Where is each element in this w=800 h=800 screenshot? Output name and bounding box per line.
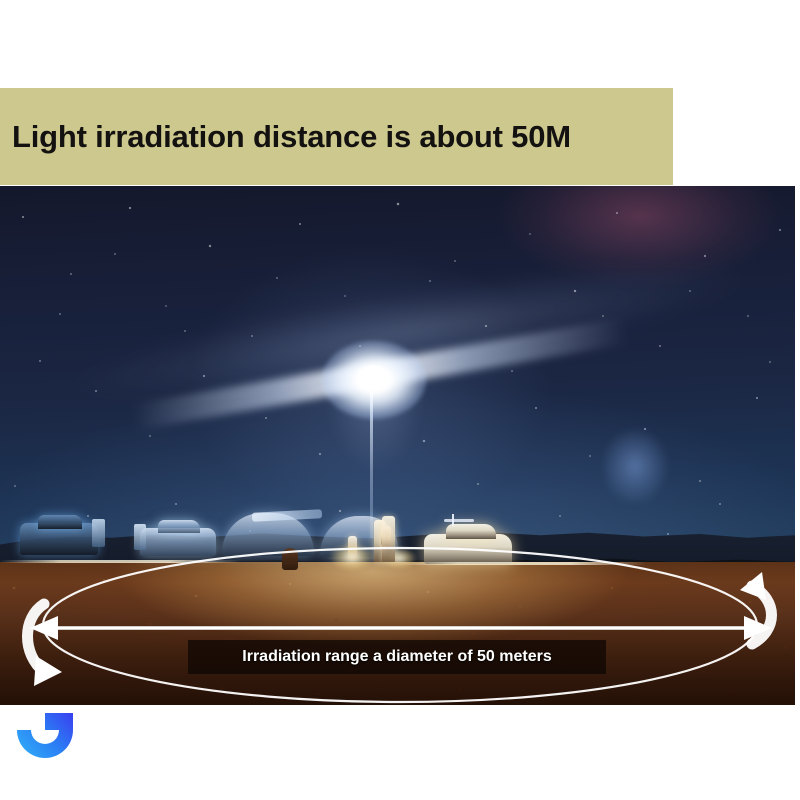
header-banner: Light irradiation distance is about 50M (0, 88, 673, 185)
lamp-ground-hotspot-a (330, 544, 374, 570)
camping-lamp-core (357, 366, 389, 390)
suv-left-open-door (92, 519, 105, 547)
person-right (382, 516, 395, 562)
person-crouching (282, 548, 298, 570)
page-title: Light irradiation distance is about 50M (12, 121, 571, 152)
ground-light-line-left (0, 560, 240, 563)
brand-logo[interactable] (12, 708, 78, 770)
ground-texture (0, 562, 795, 705)
brand-logo-icon[interactable] (12, 708, 78, 770)
car-second-cabin (158, 520, 200, 533)
blue-nebula (600, 426, 670, 506)
logo-ring-path (17, 713, 73, 758)
ground-light-line-right (396, 562, 646, 565)
product-photo: Irradiation range a diameter of 50 meter… (0, 186, 795, 705)
white-car-right-cabin (446, 524, 496, 539)
car-second-open-door (134, 524, 146, 550)
suv-left-cabin (38, 515, 82, 529)
desert-ground (0, 562, 795, 705)
white-car-roof-rack (444, 519, 474, 522)
